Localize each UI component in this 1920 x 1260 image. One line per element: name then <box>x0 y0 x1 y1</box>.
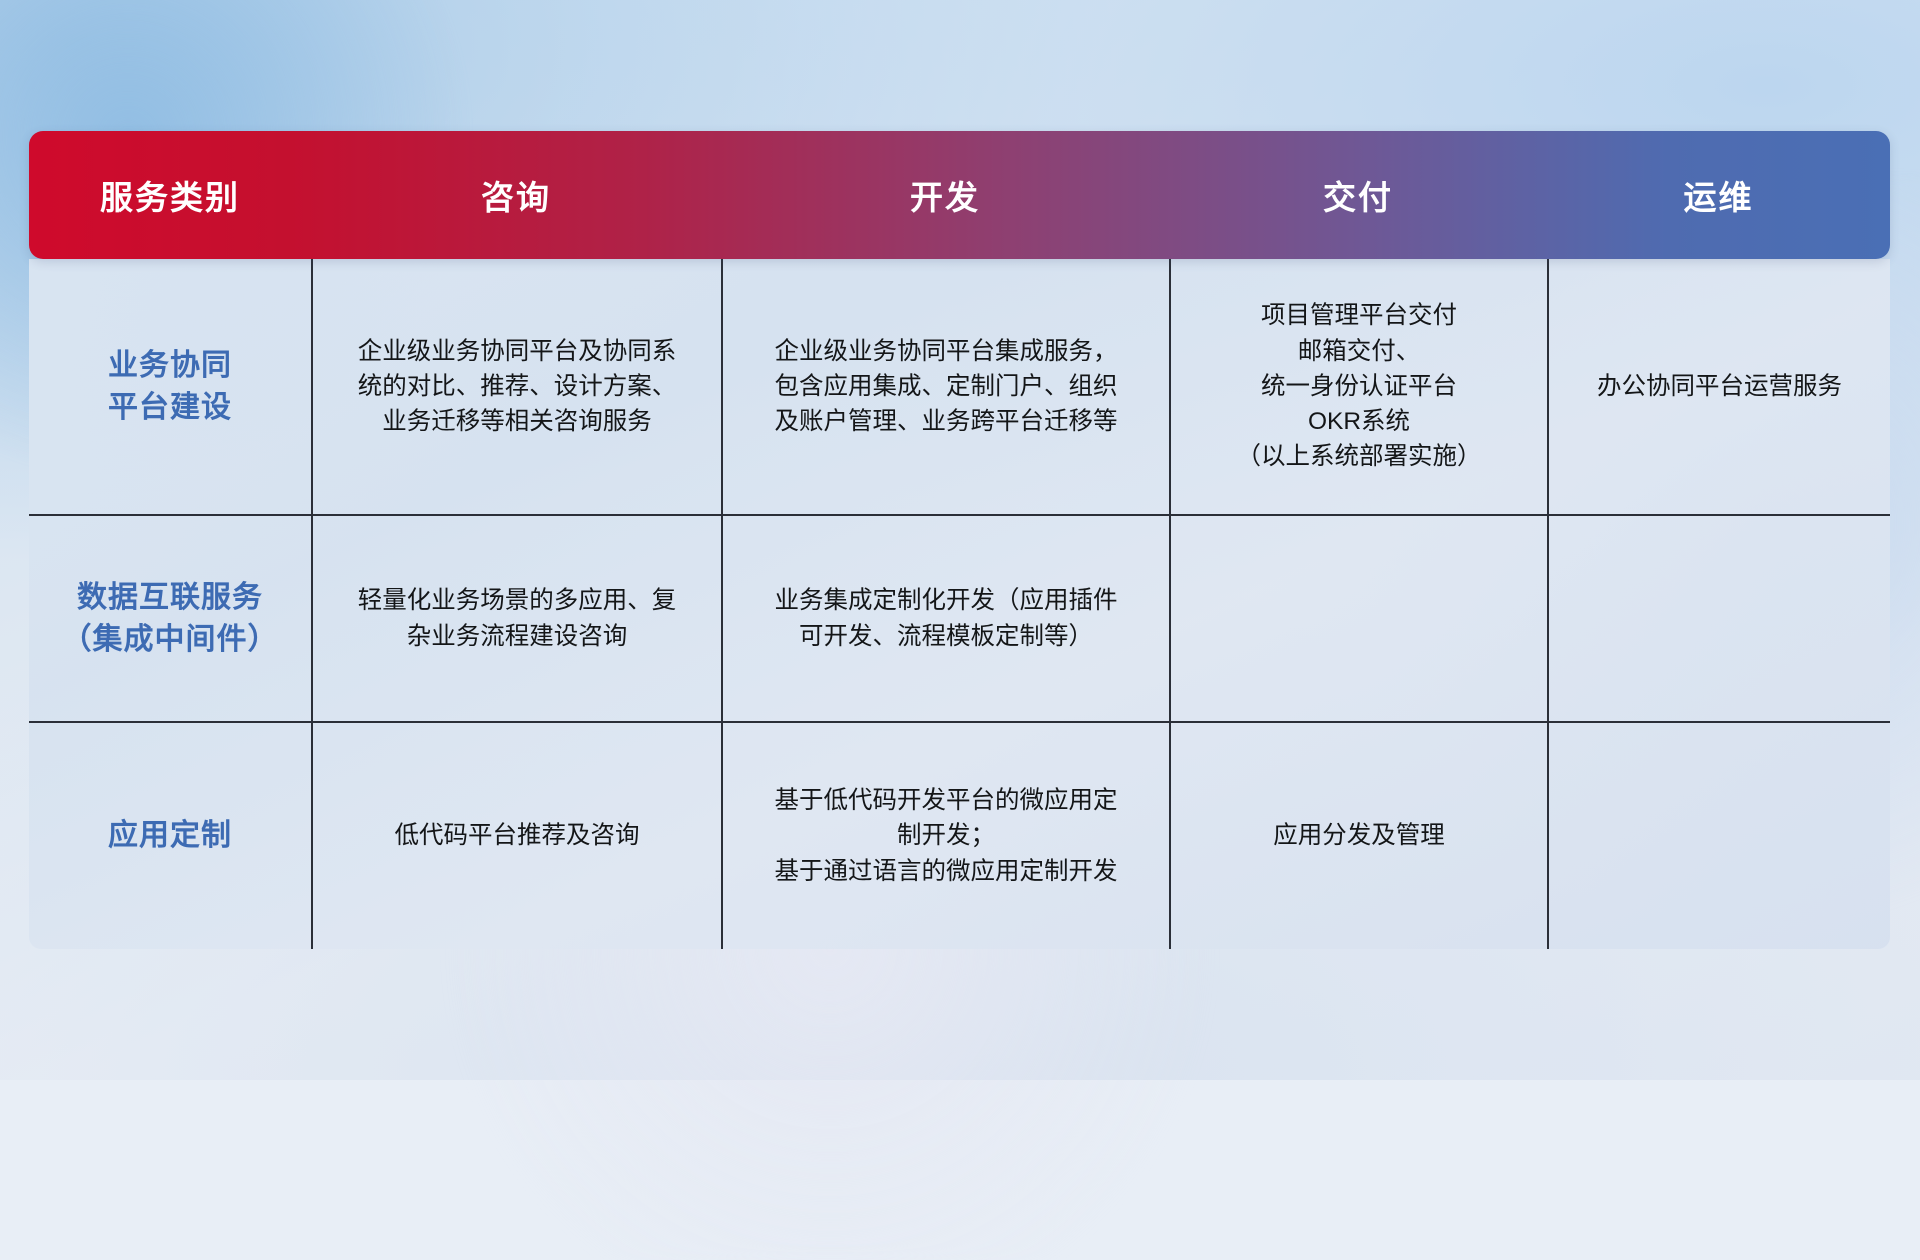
table-row: 业务协同 平台建设 企业级业务协同平台及协同系 统的对比、推荐、设计方案、 业务… <box>29 259 1890 514</box>
cell-row1-delivery <box>1169 516 1547 721</box>
table-body: 业务协同 平台建设 企业级业务协同平台及协同系 统的对比、推荐、设计方案、 业务… <box>29 259 1890 949</box>
row-label-data-interconnect: 数据互联服务 （集成中间件） <box>29 516 311 721</box>
cell-row2-delivery: 应用分发及管理 <box>1169 723 1547 949</box>
table-row: 数据互联服务 （集成中间件） 轻量化业务场景的多应用、复 杂业务流程建设咨询 业… <box>29 514 1890 721</box>
cell-row2-development: 基于低代码开发平台的微应用定 制开发； 基于通过语言的微应用定制开发 <box>721 723 1169 949</box>
cell-row1-development: 业务集成定制化开发（应用插件 可开发、流程模板定制等） <box>721 516 1169 721</box>
cell-row1-consulting: 轻量化业务场景的多应用、复 杂业务流程建设咨询 <box>311 516 721 721</box>
table-row: 应用定制 低代码平台推荐及咨询 基于低代码开发平台的微应用定 制开发； 基于通过… <box>29 721 1890 949</box>
cell-row0-consulting: 企业级业务协同平台及协同系 统的对比、推荐、设计方案、 业务迁移等相关咨询服务 <box>311 259 721 514</box>
column-header-operations: 运维 <box>1547 131 1890 259</box>
cell-row0-development: 企业级业务协同平台集成服务， 包含应用集成、定制门户、组织 及账户管理、业务跨平… <box>721 259 1169 514</box>
table-header-row: 服务类别 咨询 开发 交付 运维 <box>29 131 1890 259</box>
cell-row2-operations <box>1547 723 1890 949</box>
cell-row0-delivery: 项目管理平台交付 邮箱交付、 统一身份认证平台 OKR系统 （以上系统部署实施） <box>1169 259 1547 514</box>
column-header-delivery: 交付 <box>1169 131 1547 259</box>
column-header-consulting: 咨询 <box>311 131 721 259</box>
service-matrix-table: 服务类别 咨询 开发 交付 运维 业务协同 平台建设 企业级业务协同平台及协同系… <box>29 131 1890 949</box>
cell-row1-operations <box>1547 516 1890 721</box>
cell-row2-consulting: 低代码平台推荐及咨询 <box>311 723 721 949</box>
column-header-category: 服务类别 <box>29 131 311 259</box>
row-label-business-collaboration: 业务协同 平台建设 <box>29 259 311 514</box>
cell-row0-operations: 办公协同平台运营服务 <box>1547 259 1890 514</box>
row-label-app-customization: 应用定制 <box>29 723 311 949</box>
column-header-development: 开发 <box>721 131 1169 259</box>
